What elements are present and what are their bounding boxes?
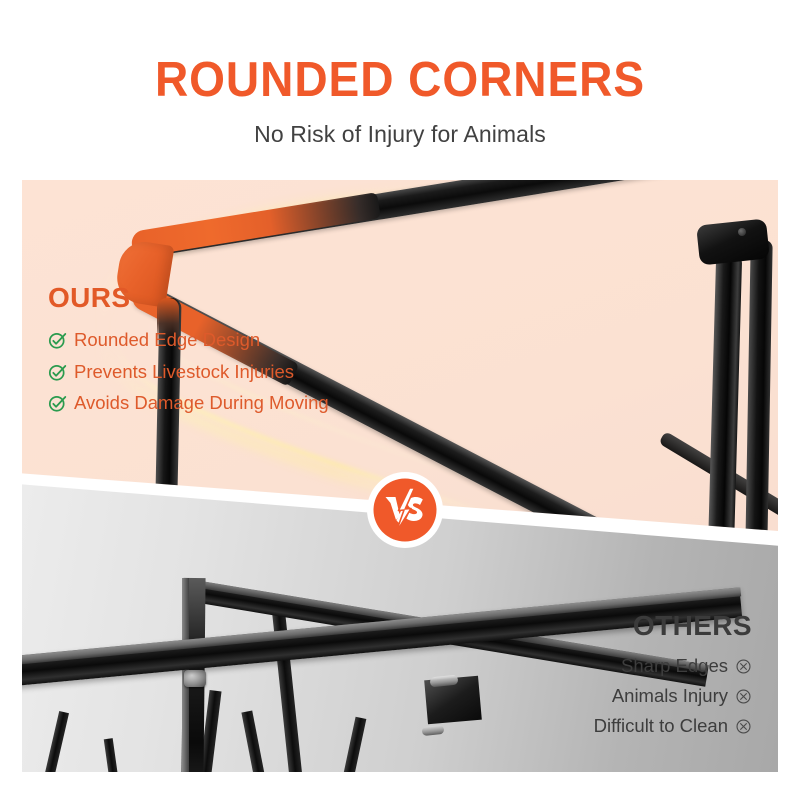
list-item: Rounded Edge Design [48, 328, 348, 357]
ours-heading: OURS [48, 282, 348, 314]
vs-badge-graphic [365, 470, 445, 550]
others-text-block: OTHERS Sharp Edges Animals Injury [422, 610, 752, 744]
frame-strut [22, 711, 69, 772]
x-circle-icon [735, 718, 752, 735]
list-item: Sharp Edges [422, 654, 752, 678]
ours-text-block: OURS Rounded Edge Design [48, 282, 348, 423]
others-item-label: Sharp Edges [621, 654, 728, 678]
list-item: Animals Injury [422, 684, 752, 708]
x-circle-icon [735, 658, 752, 675]
frame-strut [321, 717, 367, 772]
check-circle-icon [48, 331, 67, 357]
frame-corner-joint [696, 218, 770, 265]
vs-badge [365, 470, 445, 550]
others-heading: OTHERS [422, 610, 752, 642]
others-drawback-list: Sharp Edges Animals Injury [422, 654, 752, 738]
page-title: ROUNDED CORNERS [24, 0, 776, 105]
header: ROUNDED CORNERS No Risk of Injury for An… [0, 0, 800, 148]
check-circle-icon [48, 394, 67, 420]
ours-item-label: Rounded Edge Design [74, 328, 260, 353]
list-item: Prevents Livestock Injuries [48, 360, 348, 389]
check-circle-icon [48, 363, 67, 389]
frame-strut [271, 600, 302, 772]
frame-corner-bolt [738, 228, 746, 236]
ours-item-label: Prevents Livestock Injuries [74, 360, 294, 385]
list-item: Avoids Damage During Moving [48, 391, 348, 420]
others-item-label: Difficult to Clean [594, 714, 728, 738]
page-subtitle: No Risk of Injury for Animals [0, 105, 800, 148]
list-item: Difficult to Clean [422, 714, 752, 738]
ours-item-label: Avoids Damage During Moving [74, 391, 329, 416]
frame-bolt [184, 670, 206, 687]
ours-feature-list: Rounded Edge Design Prevents Livestock I… [48, 328, 348, 420]
frame-strut [104, 738, 134, 772]
infographic-page: ROUNDED CORNERS No Risk of Injury for An… [0, 0, 800, 800]
x-circle-icon [735, 688, 752, 705]
others-item-label: Animals Injury [612, 684, 728, 708]
frame-strut [241, 711, 285, 772]
